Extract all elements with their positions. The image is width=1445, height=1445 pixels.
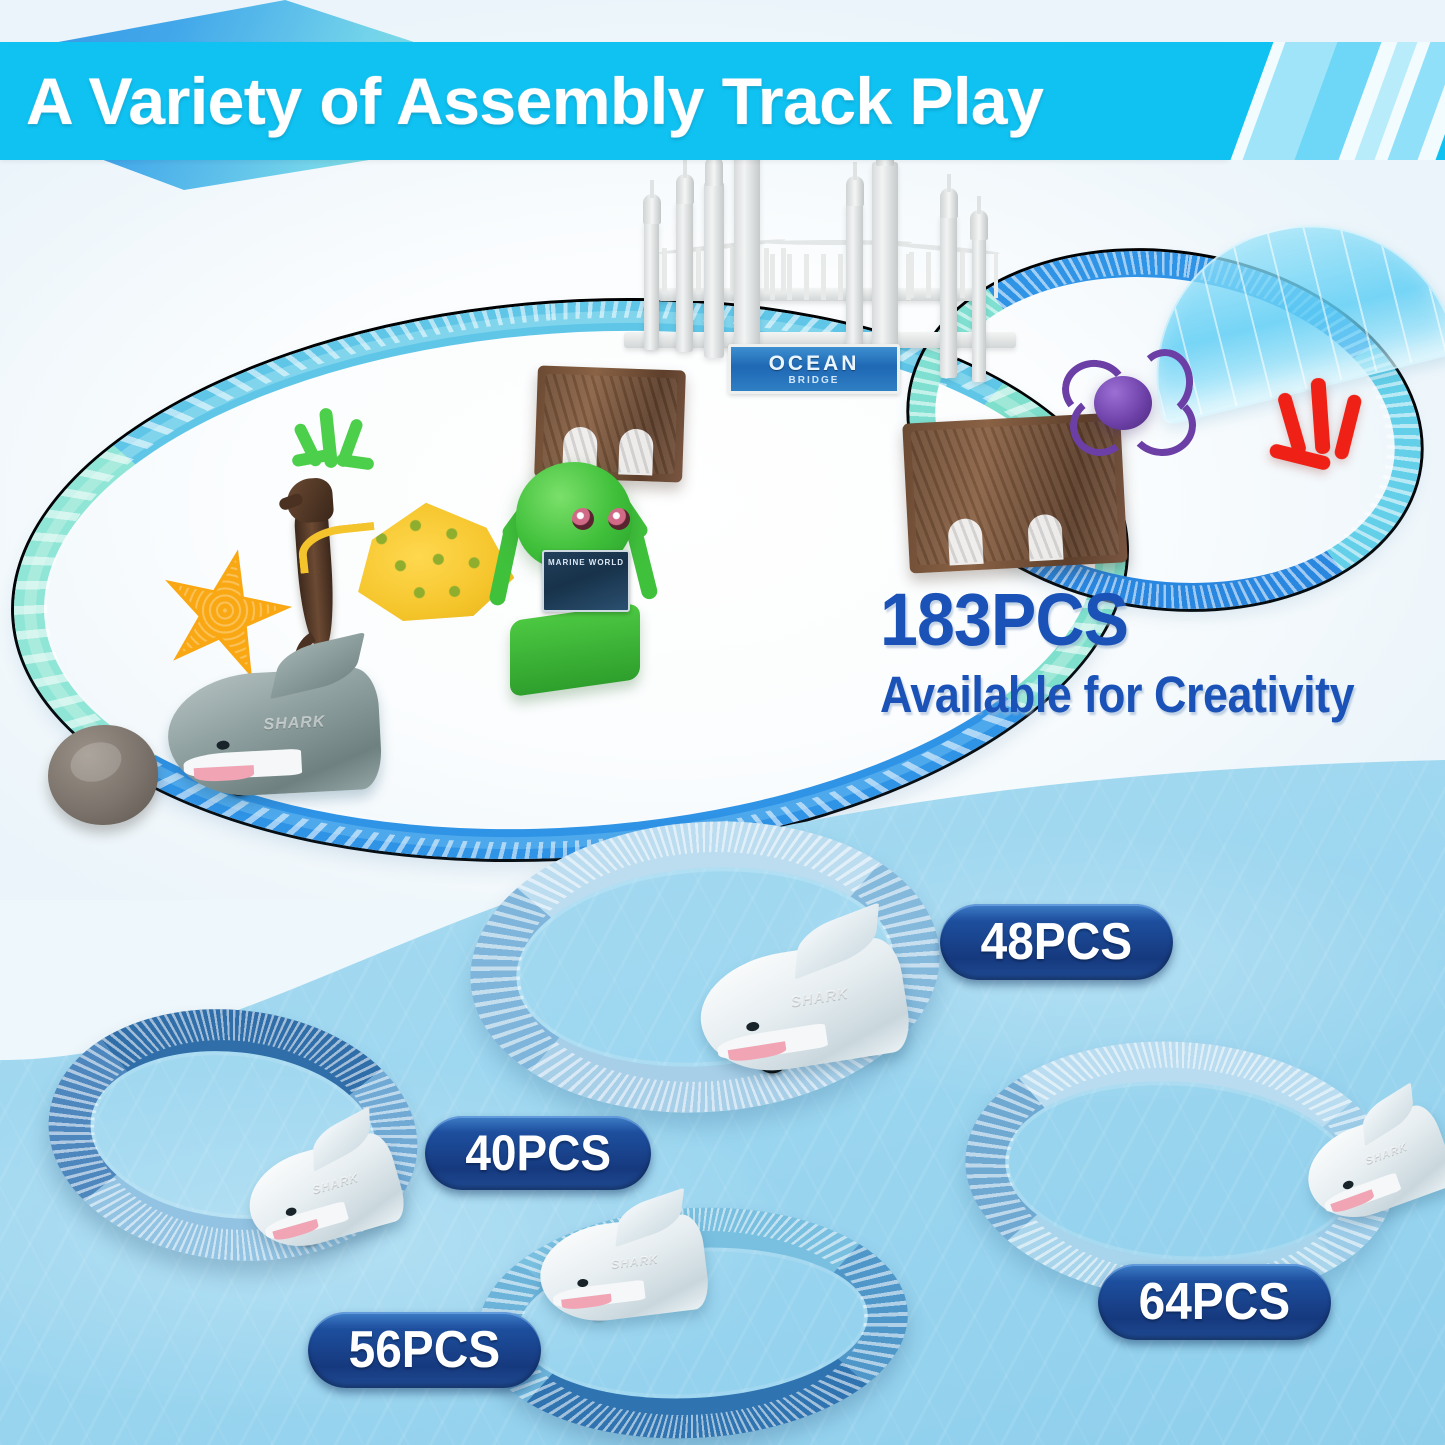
bridge-tower-main-left [734,154,760,376]
banner-diagonal-stripes [1160,42,1445,160]
total-pieces-count: 183PCS [880,584,1376,655]
red-coral-figure [1265,378,1385,490]
bridge-tower-5 [940,214,957,378]
marine-world-sign: MARINE WORLD [542,550,630,612]
shark-car-label: SHARK [263,713,326,734]
ocean-bridge-sign: OCEAN BRIDGE [728,344,900,394]
purple-octopus-figure [1060,352,1190,452]
page-title: A Variety of Assembly Track Play [26,63,1043,139]
badge-48pcs-label: 48PCS [981,916,1133,968]
bridge-sign-title: OCEAN [769,353,860,374]
bridge-tower-2 [676,200,693,352]
badge-56pcs: 56PCS [308,1312,541,1388]
bridge-tower-1 [644,220,659,350]
pieces-callout: 183PCS Available for Creativity [880,584,1419,720]
header-banner: A Variety of Assembly Track Play [0,42,1228,160]
badge-64pcs-label: 64PCS [1139,1276,1291,1328]
marine-world-label: MARINE WORLD [544,558,628,567]
ocean-bridge: OCEAN BRIDGE [600,148,1030,448]
shark-car-56: SHARK [535,1212,711,1328]
badge-48pcs: 48PCS [940,904,1173,980]
creativity-tagline: Available for Creativity [880,669,1354,720]
badge-40pcs-label: 40PCS [465,1128,611,1178]
badge-56pcs-label: 56PCS [349,1324,501,1376]
product-infographic: OCEAN BRIDGE MARINE WORLD [0,0,1445,1445]
bridge-tower-3 [704,182,724,358]
badge-64pcs: 64PCS [1098,1264,1331,1340]
bridge-sign-subtitle: BRIDGE [789,376,840,386]
rock-obstacle [48,725,158,825]
bridge-tower-6 [972,236,986,382]
green-octopus-figure: MARINE WORLD [490,462,660,692]
shark-car-main: SHARK [165,667,383,800]
badge-40pcs: 40PCS [425,1116,651,1190]
